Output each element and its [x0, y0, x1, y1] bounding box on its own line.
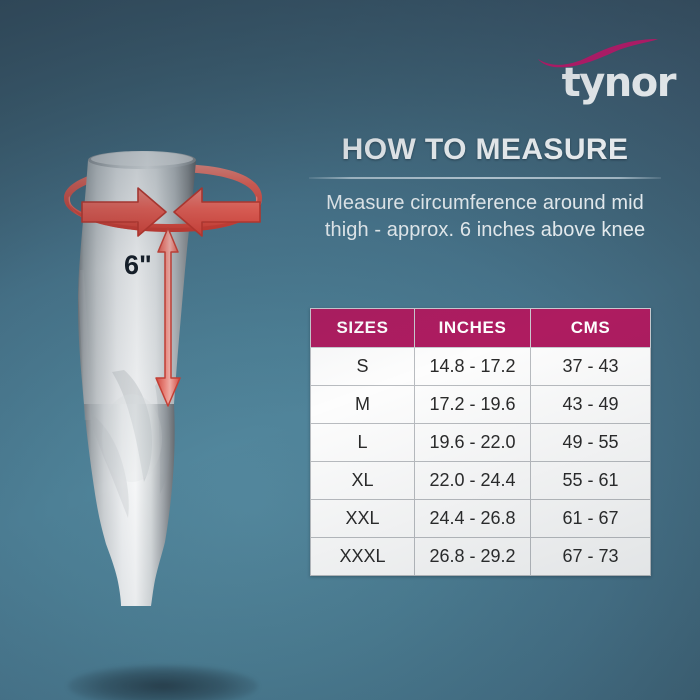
table-row: M 17.2 - 19.6 43 - 49 [311, 386, 651, 424]
column-header-cms: CMS [531, 309, 651, 348]
six-inch-label: 6" [124, 250, 152, 281]
instruction-text: Measure circumference around mid thigh -… [306, 190, 664, 244]
table-row: XL 22.0 - 24.4 55 - 61 [311, 462, 651, 500]
cell-inches: 17.2 - 19.6 [415, 386, 531, 424]
leg-drop-shadow [68, 665, 258, 700]
leg-illustration: 6" [20, 120, 300, 610]
cell-cms: 67 - 73 [531, 538, 651, 576]
page-title: HOW TO MEASURE [306, 132, 664, 168]
cell-cms: 55 - 61 [531, 462, 651, 500]
leg-diagram-svg [20, 120, 300, 610]
thigh-shape [78, 160, 196, 404]
cell-inches: 22.0 - 24.4 [415, 462, 531, 500]
table-row: S 14.8 - 17.2 37 - 43 [311, 348, 651, 386]
cell-cms: 37 - 43 [531, 348, 651, 386]
instructions-panel: HOW TO MEASURE Measure circumference aro… [306, 132, 664, 244]
brand-wordmark: tynor [500, 61, 675, 105]
cell-size: XXXL [311, 538, 415, 576]
table-row: XXL 24.4 - 26.8 61 - 67 [311, 500, 651, 538]
table-row: XXXL 26.8 - 29.2 67 - 73 [311, 538, 651, 576]
cell-size: XL [311, 462, 415, 500]
cell-inches: 19.6 - 22.0 [415, 424, 531, 462]
cell-cms: 43 - 49 [531, 386, 651, 424]
cell-inches: 24.4 - 26.8 [415, 500, 531, 538]
cell-cms: 49 - 55 [531, 424, 651, 462]
column-header-inches: INCHES [415, 309, 531, 348]
cell-size: XXL [311, 500, 415, 538]
table-row: L 19.6 - 22.0 49 - 55 [311, 424, 651, 462]
title-divider [309, 177, 661, 179]
size-chart-table: SIZES INCHES CMS S 14.8 - 17.2 37 - 43 M… [310, 308, 651, 576]
brand-logo: tynor [500, 28, 675, 108]
column-header-sizes: SIZES [311, 309, 415, 348]
cell-size: M [311, 386, 415, 424]
table-header-row: SIZES INCHES CMS [311, 309, 651, 348]
cell-cms: 61 - 67 [531, 500, 651, 538]
size-chart-canvas: tynor HOW TO MEASURE Measure circumferen… [0, 0, 700, 700]
cell-size: S [311, 348, 415, 386]
cell-size: L [311, 424, 415, 462]
cell-inches: 14.8 - 17.2 [415, 348, 531, 386]
cell-inches: 26.8 - 29.2 [415, 538, 531, 576]
